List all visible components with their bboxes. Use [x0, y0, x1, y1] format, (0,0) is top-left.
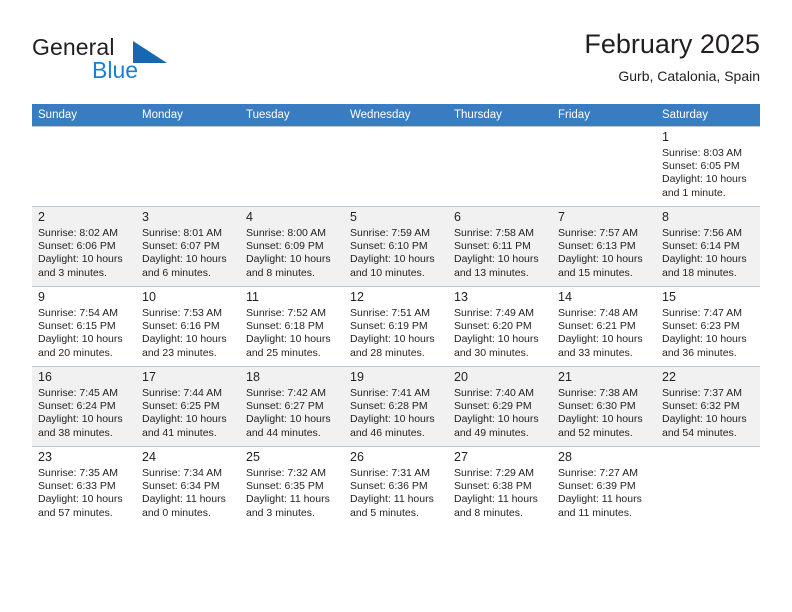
calendar-week-row: 1Sunrise: 8:03 AM Sunset: 6:05 PM Daylig… [32, 126, 760, 206]
day-detail: Sunrise: 8:02 AM Sunset: 6:06 PM Dayligh… [38, 227, 130, 280]
day-detail: Sunrise: 7:47 AM Sunset: 6:23 PM Dayligh… [662, 307, 754, 360]
day-detail: Sunrise: 7:27 AM Sunset: 6:39 PM Dayligh… [558, 467, 650, 520]
day-detail: Sunrise: 7:32 AM Sunset: 6:35 PM Dayligh… [246, 467, 338, 520]
calendar-grid: Sunday Monday Tuesday Wednesday Thursday… [32, 104, 760, 526]
weekday-header-friday: Friday [552, 104, 656, 126]
day-detail: Sunrise: 7:45 AM Sunset: 6:24 PM Dayligh… [38, 387, 130, 440]
day-number: 4 [246, 210, 338, 225]
calendar-day-cell[interactable]: 5Sunrise: 7:59 AM Sunset: 6:10 PM Daylig… [344, 206, 448, 286]
calendar-day-cell[interactable]: 10Sunrise: 7:53 AM Sunset: 6:16 PM Dayli… [136, 286, 240, 366]
calendar-page: General Blue February 2025 Gurb, Catalon… [0, 0, 792, 612]
day-number: 7 [558, 210, 650, 225]
calendar-day-cell[interactable]: 20Sunrise: 7:40 AM Sunset: 6:29 PM Dayli… [448, 366, 552, 446]
day-number: 17 [142, 370, 234, 385]
calendar-day-cell[interactable]: 7Sunrise: 7:57 AM Sunset: 6:13 PM Daylig… [552, 206, 656, 286]
calendar-body: 1Sunrise: 8:03 AM Sunset: 6:05 PM Daylig… [32, 126, 760, 526]
day-detail: Sunrise: 8:01 AM Sunset: 6:07 PM Dayligh… [142, 227, 234, 280]
weekday-header-wednesday: Wednesday [344, 104, 448, 126]
calendar-header-row: Sunday Monday Tuesday Wednesday Thursday… [32, 104, 760, 126]
day-number: 10 [142, 290, 234, 305]
day-number: 21 [558, 370, 650, 385]
calendar-day-cell[interactable]: 18Sunrise: 7:42 AM Sunset: 6:27 PM Dayli… [240, 366, 344, 446]
weekday-header-tuesday: Tuesday [240, 104, 344, 126]
day-number: 28 [558, 450, 650, 465]
day-detail: Sunrise: 7:49 AM Sunset: 6:20 PM Dayligh… [454, 307, 546, 360]
day-detail: Sunrise: 7:37 AM Sunset: 6:32 PM Dayligh… [662, 387, 754, 440]
day-detail: Sunrise: 7:58 AM Sunset: 6:11 PM Dayligh… [454, 227, 546, 280]
day-number: 14 [558, 290, 650, 305]
calendar-day-cell[interactable]: 14Sunrise: 7:48 AM Sunset: 6:21 PM Dayli… [552, 286, 656, 366]
day-number: 12 [350, 290, 442, 305]
day-number: 6 [454, 210, 546, 225]
day-detail: Sunrise: 7:42 AM Sunset: 6:27 PM Dayligh… [246, 387, 338, 440]
calendar-day-cell[interactable]: 16Sunrise: 7:45 AM Sunset: 6:24 PM Dayli… [32, 366, 136, 446]
calendar-week-row: 9Sunrise: 7:54 AM Sunset: 6:15 PM Daylig… [32, 286, 760, 366]
calendar-day-cell[interactable]: 17Sunrise: 7:44 AM Sunset: 6:25 PM Dayli… [136, 366, 240, 446]
day-detail: Sunrise: 8:00 AM Sunset: 6:09 PM Dayligh… [246, 227, 338, 280]
page-title: February 2025 [584, 28, 760, 60]
title-block: February 2025 Gurb, Catalonia, Spain [584, 28, 760, 86]
calendar-day-cell[interactable]: 8Sunrise: 7:56 AM Sunset: 6:14 PM Daylig… [656, 206, 760, 286]
calendar-day-cell[interactable] [552, 126, 656, 206]
day-detail: Sunrise: 7:57 AM Sunset: 6:13 PM Dayligh… [558, 227, 650, 280]
calendar-day-cell[interactable]: 25Sunrise: 7:32 AM Sunset: 6:35 PM Dayli… [240, 446, 344, 526]
calendar-day-cell[interactable]: 23Sunrise: 7:35 AM Sunset: 6:33 PM Dayli… [32, 446, 136, 526]
day-number: 5 [350, 210, 442, 225]
day-detail: Sunrise: 7:59 AM Sunset: 6:10 PM Dayligh… [350, 227, 442, 280]
calendar-day-cell[interactable]: 19Sunrise: 7:41 AM Sunset: 6:28 PM Dayli… [344, 366, 448, 446]
calendar-day-cell[interactable]: 11Sunrise: 7:52 AM Sunset: 6:18 PM Dayli… [240, 286, 344, 366]
weekday-header-thursday: Thursday [448, 104, 552, 126]
calendar-day-cell[interactable]: 9Sunrise: 7:54 AM Sunset: 6:15 PM Daylig… [32, 286, 136, 366]
calendar-day-cell[interactable]: 28Sunrise: 7:27 AM Sunset: 6:39 PM Dayli… [552, 446, 656, 526]
day-number: 16 [38, 370, 130, 385]
calendar-day-cell[interactable] [136, 126, 240, 206]
calendar-day-cell[interactable] [344, 126, 448, 206]
day-number: 18 [246, 370, 338, 385]
day-number: 23 [38, 450, 130, 465]
day-detail: Sunrise: 7:54 AM Sunset: 6:15 PM Dayligh… [38, 307, 130, 360]
weekday-header-saturday: Saturday [656, 104, 760, 126]
weekday-header-row: Sunday Monday Tuesday Wednesday Thursday… [32, 104, 760, 126]
calendar-day-cell[interactable]: 27Sunrise: 7:29 AM Sunset: 6:38 PM Dayli… [448, 446, 552, 526]
day-detail: Sunrise: 7:40 AM Sunset: 6:29 PM Dayligh… [454, 387, 546, 440]
page-subtitle: Gurb, Catalonia, Spain [584, 66, 760, 86]
calendar-day-cell[interactable]: 12Sunrise: 7:51 AM Sunset: 6:19 PM Dayli… [344, 286, 448, 366]
day-number: 3 [142, 210, 234, 225]
day-number: 27 [454, 450, 546, 465]
calendar-week-row: 23Sunrise: 7:35 AM Sunset: 6:33 PM Dayli… [32, 446, 760, 526]
day-detail: Sunrise: 7:52 AM Sunset: 6:18 PM Dayligh… [246, 307, 338, 360]
day-detail: Sunrise: 7:56 AM Sunset: 6:14 PM Dayligh… [662, 227, 754, 280]
day-number: 15 [662, 290, 754, 305]
day-number: 8 [662, 210, 754, 225]
calendar-day-cell[interactable]: 21Sunrise: 7:38 AM Sunset: 6:30 PM Dayli… [552, 366, 656, 446]
day-detail: Sunrise: 7:51 AM Sunset: 6:19 PM Dayligh… [350, 307, 442, 360]
calendar-day-cell[interactable]: 4Sunrise: 8:00 AM Sunset: 6:09 PM Daylig… [240, 206, 344, 286]
day-detail: Sunrise: 7:38 AM Sunset: 6:30 PM Dayligh… [558, 387, 650, 440]
day-number: 11 [246, 290, 338, 305]
day-number: 22 [662, 370, 754, 385]
calendar-day-cell[interactable] [448, 126, 552, 206]
calendar-day-cell[interactable]: 26Sunrise: 7:31 AM Sunset: 6:36 PM Dayli… [344, 446, 448, 526]
day-number: 1 [662, 130, 754, 145]
calendar-week-row: 2Sunrise: 8:02 AM Sunset: 6:06 PM Daylig… [32, 206, 760, 286]
calendar-day-cell[interactable]: 3Sunrise: 8:01 AM Sunset: 6:07 PM Daylig… [136, 206, 240, 286]
day-number: 25 [246, 450, 338, 465]
calendar-day-cell[interactable]: 2Sunrise: 8:02 AM Sunset: 6:06 PM Daylig… [32, 206, 136, 286]
day-number: 9 [38, 290, 130, 305]
day-detail: Sunrise: 7:44 AM Sunset: 6:25 PM Dayligh… [142, 387, 234, 440]
calendar-day-cell[interactable]: 15Sunrise: 7:47 AM Sunset: 6:23 PM Dayli… [656, 286, 760, 366]
calendar-week-row: 16Sunrise: 7:45 AM Sunset: 6:24 PM Dayli… [32, 366, 760, 446]
calendar-day-cell[interactable] [656, 446, 760, 526]
day-number: 26 [350, 450, 442, 465]
brand-logo[interactable]: General Blue [32, 34, 262, 88]
calendar-day-cell[interactable]: 22Sunrise: 7:37 AM Sunset: 6:32 PM Dayli… [656, 366, 760, 446]
weekday-header-sunday: Sunday [32, 104, 136, 126]
day-detail: Sunrise: 7:31 AM Sunset: 6:36 PM Dayligh… [350, 467, 442, 520]
weekday-header-monday: Monday [136, 104, 240, 126]
day-detail: Sunrise: 7:48 AM Sunset: 6:21 PM Dayligh… [558, 307, 650, 360]
day-number: 24 [142, 450, 234, 465]
day-number: 19 [350, 370, 442, 385]
day-detail: Sunrise: 7:34 AM Sunset: 6:34 PM Dayligh… [142, 467, 234, 520]
day-number: 2 [38, 210, 130, 225]
brand-name-blue: Blue [92, 57, 138, 84]
calendar-day-cell[interactable]: 24Sunrise: 7:34 AM Sunset: 6:34 PM Dayli… [136, 446, 240, 526]
day-detail: Sunrise: 7:35 AM Sunset: 6:33 PM Dayligh… [38, 467, 130, 520]
calendar-day-cell[interactable]: 1Sunrise: 8:03 AM Sunset: 6:05 PM Daylig… [656, 126, 760, 206]
day-number: 20 [454, 370, 546, 385]
calendar-day-cell[interactable] [32, 126, 136, 206]
calendar-day-cell[interactable] [240, 126, 344, 206]
day-number: 13 [454, 290, 546, 305]
day-detail: Sunrise: 7:29 AM Sunset: 6:38 PM Dayligh… [454, 467, 546, 520]
triangle-logo-icon [133, 41, 167, 63]
calendar-day-cell[interactable]: 6Sunrise: 7:58 AM Sunset: 6:11 PM Daylig… [448, 206, 552, 286]
day-detail: Sunrise: 8:03 AM Sunset: 6:05 PM Dayligh… [662, 147, 754, 200]
calendar-day-cell[interactable]: 13Sunrise: 7:49 AM Sunset: 6:20 PM Dayli… [448, 286, 552, 366]
day-detail: Sunrise: 7:53 AM Sunset: 6:16 PM Dayligh… [142, 307, 234, 360]
page-header: General Blue February 2025 Gurb, Catalon… [32, 28, 760, 92]
day-detail: Sunrise: 7:41 AM Sunset: 6:28 PM Dayligh… [350, 387, 442, 440]
